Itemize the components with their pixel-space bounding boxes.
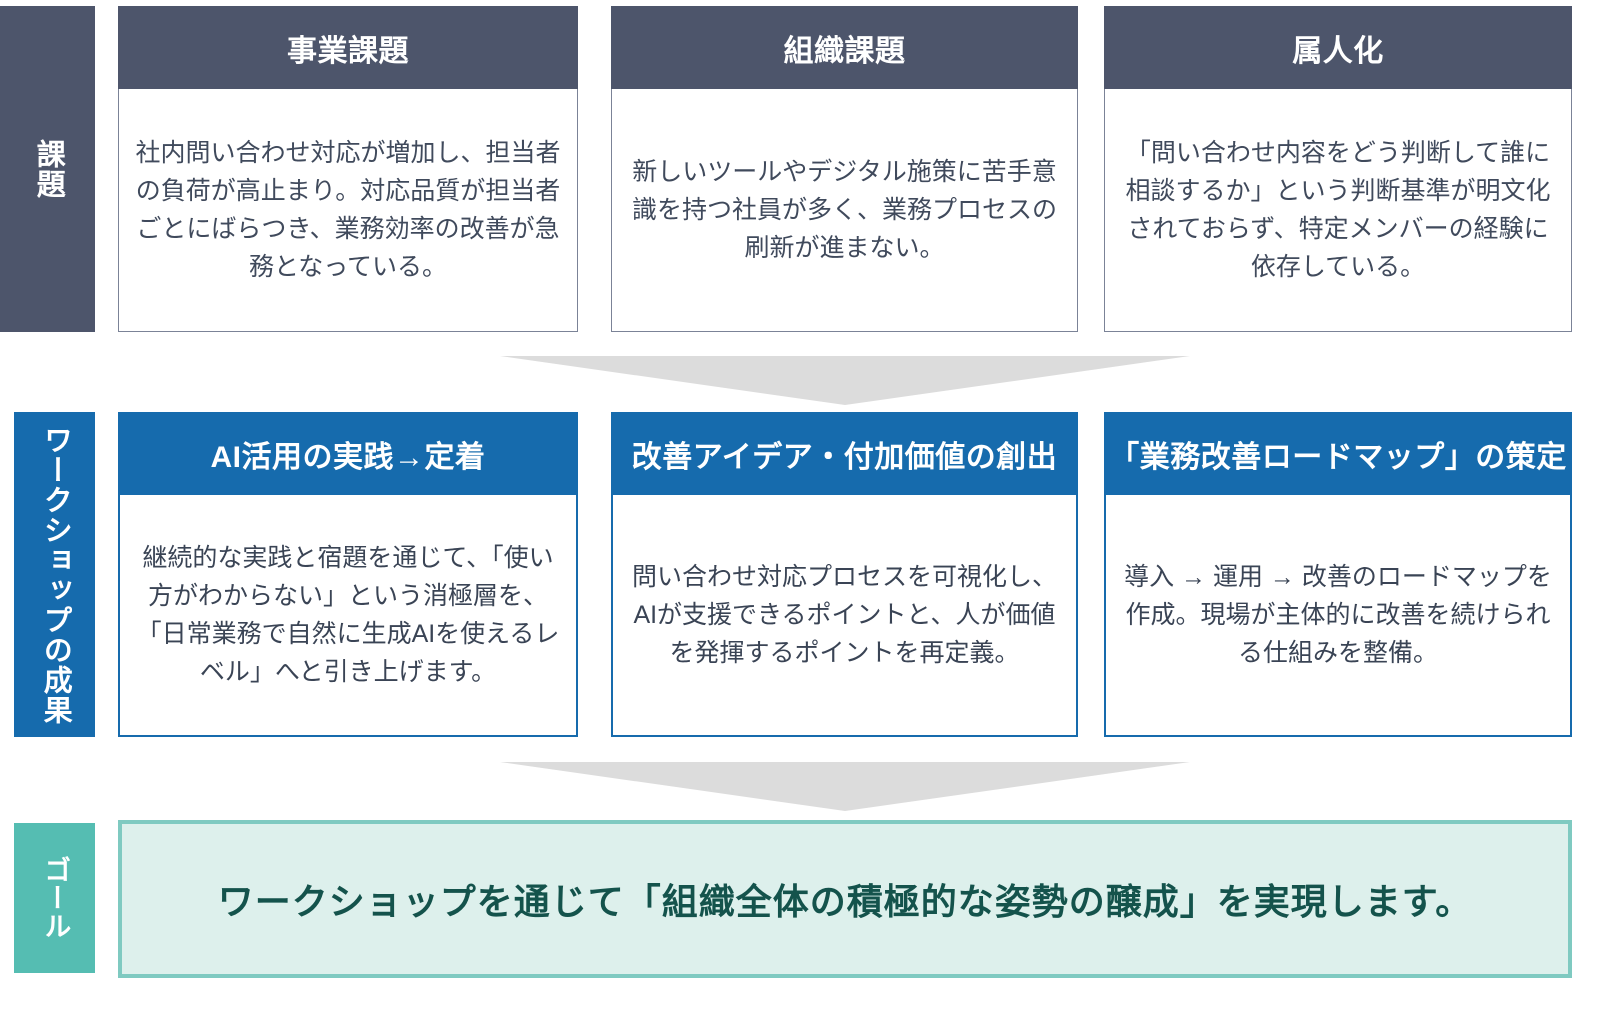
- card-business-issue-title: 事業課題: [118, 6, 578, 89]
- card-organization-issue-title: 組織課題: [611, 6, 1078, 89]
- goal-statement-box: ワークショップを通じて「組織全体の積極的な姿勢の醸成」を実現します。: [118, 820, 1572, 978]
- row-label-outcomes: ワークショップの成果: [14, 412, 95, 737]
- card-personalization-issue-title: 属人化: [1104, 6, 1572, 89]
- arrow-down-icon-outcomes-to-goal: [500, 762, 1190, 811]
- row-label-outcomes-text: ワークショップの成果: [40, 425, 70, 725]
- card-roadmap: 「業務改善ロードマップ」の策定 導入 → 運用 → 改善のロードマップを作成。現…: [1104, 412, 1572, 737]
- card-personalization-issue: 属人化 「問い合わせ内容をどう判断して誰に相談するか」という判断基準が明文化され…: [1104, 6, 1572, 332]
- card-organization-issue: 組織課題 新しいツールやデジタル施策に苦手意識を持つ社員が多く、業務プロセスの刷…: [611, 6, 1078, 332]
- card-ai-adoption-title: AI活用の実践→定着: [118, 412, 578, 495]
- row-label-issues: 課題: [0, 6, 95, 332]
- arrow-down-icon-issues-to-outcomes: [500, 356, 1190, 405]
- card-business-issue-body: 社内問い合わせ対応が増加し、担当者の負荷が高止まり。対応品質が担当者ごとにばらつ…: [118, 89, 578, 332]
- row-label-issues-text: 課題: [33, 139, 63, 199]
- card-improvement-ideas-title: 改善アイデア・付加価値の創出: [611, 412, 1078, 495]
- row-label-goal-text: ゴール: [41, 856, 69, 940]
- card-roadmap-body: 導入 → 運用 → 改善のロードマップを作成。現場が主体的に改善を続けられる仕組…: [1104, 495, 1572, 737]
- card-organization-issue-body: 新しいツールやデジタル施策に苦手意識を持つ社員が多く、業務プロセスの刷新が進まな…: [611, 89, 1078, 332]
- card-ai-adoption: AI活用の実践→定着 継続的な実践と宿題を通じて、「使い方がわからない」という消…: [118, 412, 578, 737]
- card-business-issue: 事業課題 社内問い合わせ対応が増加し、担当者の負荷が高止まり。対応品質が担当者ご…: [118, 6, 578, 332]
- row-label-goal: ゴール: [14, 823, 95, 973]
- diagram-board: 課題 事業課題 社内問い合わせ対応が増加し、担当者の負荷が高止まり。対応品質が担…: [0, 0, 1600, 1011]
- card-personalization-issue-body: 「問い合わせ内容をどう判断して誰に相談するか」という判断基準が明文化されておらず…: [1104, 89, 1572, 332]
- card-improvement-ideas-body: 問い合わせ対応プロセスを可視化し、AIが支援できるポイントと、人が価値を発揮する…: [611, 495, 1078, 737]
- card-improvement-ideas: 改善アイデア・付加価値の創出 問い合わせ対応プロセスを可視化し、AIが支援できる…: [611, 412, 1078, 737]
- goal-statement-text: ワークショップを通じて「組織全体の積極的な姿勢の醸成」を実現します。: [218, 873, 1472, 925]
- card-ai-adoption-body: 継続的な実践と宿題を通じて、「使い方がわからない」という消極層を、「日常業務で自…: [118, 495, 578, 737]
- card-roadmap-title: 「業務改善ロードマップ」の策定: [1104, 412, 1572, 495]
